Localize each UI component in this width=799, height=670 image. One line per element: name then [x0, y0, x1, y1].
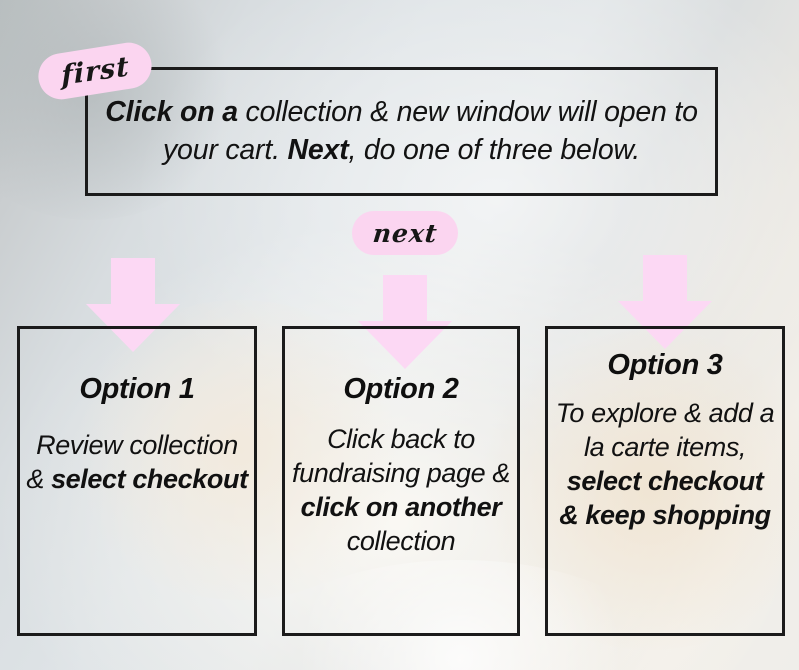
instruction-tail: , do one of three below.: [349, 134, 641, 166]
option-3-text-bold: select checkout & keep shopping: [559, 466, 771, 530]
arrow-shaft: [643, 255, 687, 301]
option-2-title: Option 2: [343, 373, 458, 406]
option-2-text-normal: Click back to fundraising page &: [292, 424, 510, 488]
option-2-body: Click back to fundraising page & click o…: [285, 422, 517, 558]
option-1-title: Option 1: [79, 373, 194, 406]
option-card-1: Option 1 Review collection & select chec…: [17, 326, 257, 636]
instruction-bold-next: Next: [288, 134, 349, 166]
option-3-text-normal: To explore & add a la carte items,: [556, 398, 774, 462]
arrow-shaft: [111, 258, 155, 304]
option-3-body: To explore & add a la carte items, selec…: [548, 396, 782, 532]
infographic-canvas: Click on a collection & new window will …: [0, 0, 799, 670]
badge-next-label: next: [371, 219, 439, 248]
instruction-box: Click on a collection & new window will …: [85, 67, 718, 196]
instruction-bold-lead: Click on a: [105, 96, 238, 128]
option-card-2: Option 2 Click back to fundraising page …: [282, 326, 520, 636]
option-2-text-tail: collection: [347, 526, 456, 556]
badge-first-label: first: [60, 51, 129, 92]
option-1-body: Review collection & select checkout: [20, 428, 254, 496]
option-1-text-bold: select checkout: [51, 464, 248, 494]
badge-next: next: [352, 211, 458, 255]
arrow-shaft: [383, 275, 427, 321]
option-card-3: Option 3 To explore & add a la carte ite…: [545, 326, 785, 636]
instruction-text: Click on a collection & new window will …: [88, 94, 715, 170]
option-2-text-bold: click on another: [301, 492, 502, 522]
option-3-title: Option 3: [607, 349, 722, 382]
